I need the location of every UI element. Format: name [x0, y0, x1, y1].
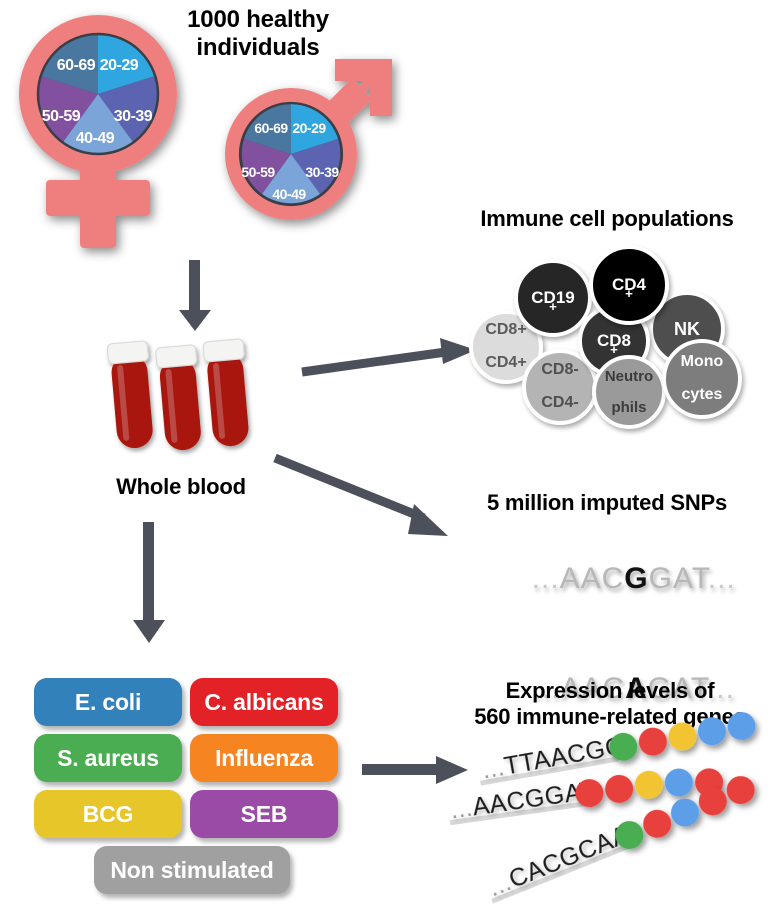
blood-tubes-icon — [104, 334, 264, 466]
nk-label: NK — [674, 320, 700, 339]
snp-1-left: AAC — [560, 562, 625, 595]
stimulus-non-stimulated-label: Non stimulated — [110, 857, 273, 884]
arrow-down-blood-to-stimuli — [130, 522, 170, 644]
strand-3-bead-2 — [639, 806, 675, 842]
pie-label-40-49: 40-49 — [272, 186, 306, 202]
stimulus-s-aureus-label: S. aureus — [57, 745, 159, 772]
strand-3-sequence: CACGCAA — [505, 820, 633, 894]
pie-label-50-59: 50-59 — [42, 108, 81, 125]
arrow-blood-to-immune-cells — [300, 330, 478, 380]
cd8-cd4-neg-label-line1: CD8- — [541, 362, 578, 379]
cd8-cd4-neg-label-line2: CD4- — [541, 395, 578, 412]
expression-title-line1: Expression levels of — [452, 678, 768, 704]
female-gender-symbol: 20-29 30-39 40-49 50-59 60-69 — [8, 8, 188, 258]
snps-title: 5 million imputed SNPs — [446, 490, 768, 516]
stimulus-s-aureus[interactable]: S. aureus — [34, 734, 182, 782]
stimulus-influenza-label: Influenza — [215, 745, 313, 772]
stimulus-bcg[interactable]: BCG — [34, 790, 182, 838]
cd8-cd4-pos-label-line1: CD8+ — [485, 322, 526, 339]
strand-2-bead-2 — [603, 773, 635, 805]
cd8-label: CD8+ — [597, 332, 631, 350]
cd8-cd4-pos-label-line2: CD4+ — [485, 355, 526, 372]
stimulus-non-stimulated[interactable]: Non stimulated — [94, 846, 290, 894]
male-gender-symbol: 20-29 30-39 40-49 50-59 60-69 — [196, 22, 406, 237]
stimulus-e-coli-label: E. coli — [75, 689, 141, 716]
snp-1-suffix-dots: ... — [708, 562, 736, 595]
neutrophils-label-line1: Neutro — [605, 369, 653, 385]
snp-1-right: GAT — [649, 562, 708, 595]
monocytes-label-line2: cytes — [681, 387, 724, 404]
monocytes-cell: Mono cytes — [662, 339, 742, 419]
stimulus-seb-label: SEB — [241, 801, 288, 828]
pie-label-20-29: 20-29 — [100, 57, 139, 74]
stimulus-e-coli[interactable]: E. coli — [34, 678, 182, 726]
neutrophils-label-line2: phils — [605, 400, 653, 416]
expression-strands: ...TTAACGG ...AACGGAT — [460, 740, 771, 915]
neutrophils-cell: Neutro phils — [592, 355, 666, 429]
stimulus-influenza[interactable]: Influenza — [190, 734, 338, 782]
stimulus-c-albicans-label: C. albicans — [204, 689, 323, 716]
immune-cell-populations: CD8+ CD4+ CD19+ CD4+ NK CD8+ CD8- CD4- N… — [466, 243, 756, 433]
stimulus-seb[interactable]: SEB — [190, 790, 338, 838]
pie-label-30-39: 30-39 — [305, 164, 339, 180]
svg-text:...TTAACGG: ...TTAACGG — [480, 732, 627, 785]
arrow-stimuli-to-expression — [362, 752, 470, 792]
arrow-down-cohort-to-blood — [175, 260, 215, 332]
strand-1-sequence: TTAACGG — [502, 732, 627, 781]
arrow-blood-to-snps — [272, 452, 472, 544]
whole-blood-label: Whole blood — [76, 474, 286, 500]
monocytes-label-line1: Mono — [681, 354, 724, 371]
svg-text:...AACGGAT: ...AACGGAT — [449, 776, 598, 824]
cd4-cell: CD4+ — [589, 245, 669, 325]
pie-label-60-69: 60-69 — [254, 120, 288, 136]
pie-label-40-49: 40-49 — [76, 130, 115, 147]
pie-label-20-29: 20-29 — [292, 120, 326, 136]
immune-title: Immune cell populations — [446, 206, 768, 232]
snp-row-1: ...AACGGAT... — [480, 528, 750, 630]
pie-label-60-69: 60-69 — [57, 57, 96, 74]
strand-3-bead-3 — [667, 794, 703, 830]
snp-1-variant: G — [624, 562, 648, 595]
stimulus-c-albicans[interactable]: C. albicans — [190, 678, 338, 726]
strand-2-bead-3 — [633, 769, 665, 801]
pie-label-30-39: 30-39 — [114, 108, 153, 125]
pie-label-50-59: 50-59 — [241, 164, 275, 180]
strand-3-bead-5 — [722, 772, 758, 808]
cd19-label: CD19+ — [531, 289, 574, 307]
snp-sequences: ...AACGGAT... ...AACAGAT... — [480, 528, 750, 618]
strand-2-bead-4 — [663, 767, 695, 799]
svg-text:...CACGCAA: ...CACGCAA — [484, 820, 633, 902]
stimuli-panel: E. coli C. albicans S. aureus Influenza … — [34, 678, 344, 896]
snp-1-prefix-dots: ... — [532, 562, 560, 595]
cd4-label: CD4+ — [612, 276, 646, 294]
stimulus-bcg-label: BCG — [83, 801, 134, 828]
